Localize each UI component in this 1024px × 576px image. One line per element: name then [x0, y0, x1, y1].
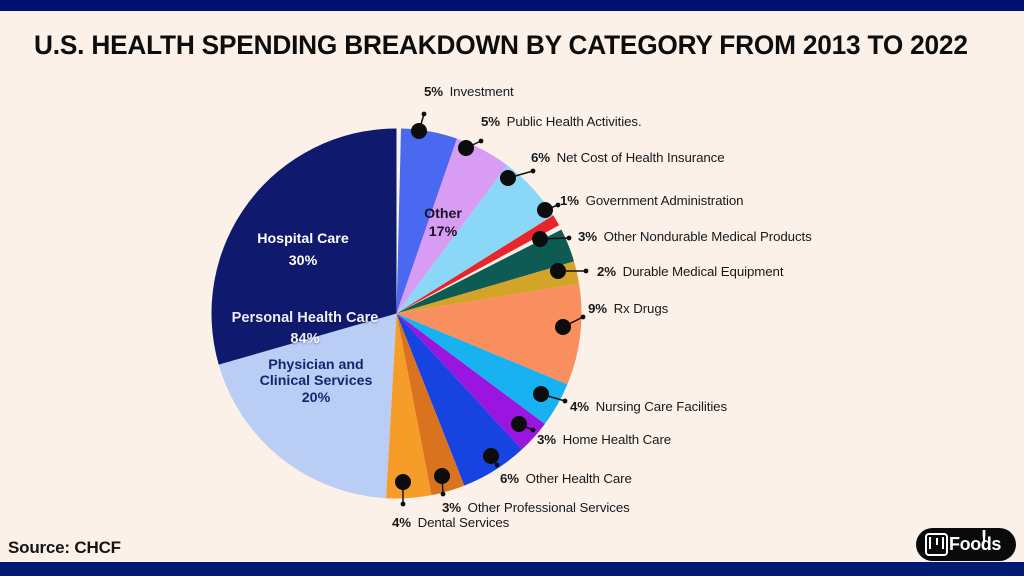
leader-anchor-dot [434, 468, 450, 484]
brand-logo-badge[interactable]: Foods [916, 528, 1016, 561]
callout-category: Nursing Care Facilities [589, 399, 727, 414]
callout-label: 6% Other Health Care [500, 471, 632, 486]
slice-label-name: Personal Health Care [205, 308, 405, 329]
callout-category: Other Nondurable Medical Products [597, 229, 812, 244]
callout-category: Other Health Care [519, 471, 632, 486]
leader-anchor-dot [511, 416, 527, 432]
callout-percent: 3% [442, 500, 461, 515]
slice-label-physician-and-clinical-services: Physician andClinical Services20% [248, 357, 384, 406]
leader-anchor-dot [411, 123, 427, 139]
callout-percent: 4% [570, 399, 589, 414]
w-monogram-icon [925, 533, 948, 556]
callout-label: 3% Other Nondurable Medical Products [578, 229, 812, 244]
slice-label-name: Hospital Care [224, 228, 382, 250]
callout-percent: 3% [578, 229, 597, 244]
callout-percent: 1% [560, 193, 579, 208]
callout-category: Government Administration [579, 193, 743, 208]
leader-tip-dot [563, 399, 568, 404]
group-label-other: Other17% [404, 206, 482, 242]
slice-label-percent: 17% [404, 224, 482, 242]
leader-tip-dot [567, 236, 572, 241]
callout-label: 4% Nursing Care Facilities [570, 399, 727, 414]
leader-anchor-dot [458, 140, 474, 156]
leader-tip-dot [584, 269, 589, 274]
callout-percent: 6% [531, 150, 550, 165]
leader-tip-dot [495, 463, 500, 468]
callout-category: Dental Services [411, 515, 509, 530]
leader-tip-dot [422, 112, 427, 117]
leader-anchor-dot [537, 202, 553, 218]
slice-label-percent: 30% [224, 250, 382, 272]
callout-label: 6% Net Cost of Health Insurance [531, 150, 725, 165]
callout-category: Public Health Activities. [500, 114, 642, 129]
callout-label: 9% Rx Drugs [588, 301, 668, 316]
leader-anchor-dot [532, 231, 548, 247]
callout-label: 5% Investment [424, 84, 514, 99]
leader-tip-dot [581, 315, 586, 320]
leader-anchor-dot [550, 263, 566, 279]
leader-tip-dot [531, 428, 536, 433]
slice-label-name: Physician and [248, 357, 384, 373]
slice-label-name: Clinical Services [248, 373, 384, 389]
slice-label-percent: 20% [248, 390, 384, 406]
callout-percent: 5% [424, 84, 443, 99]
callout-label: 5% Public Health Activities. [481, 114, 642, 129]
leader-tip-dot [441, 492, 446, 497]
fork-icon [980, 530, 988, 544]
callout-category: Durable Medical Equipment [616, 264, 783, 279]
callout-percent: 5% [481, 114, 500, 129]
slice-label-hospital-care: Hospital Care30% [224, 228, 382, 272]
leader-anchor-dot [500, 170, 516, 186]
callout-label: 1% Government Administration [560, 193, 743, 208]
callout-label: 2% Durable Medical Equipment [597, 264, 783, 279]
leader-tip-dot [401, 502, 406, 507]
leader-anchor-dot [483, 448, 499, 464]
callout-percent: 6% [500, 471, 519, 486]
leader-anchor-dot [533, 386, 549, 402]
callout-percent: 2% [597, 264, 616, 279]
leader-tip-dot [479, 139, 484, 144]
callout-category: Net Cost of Health Insurance [550, 150, 724, 165]
callout-category: Rx Drugs [607, 301, 668, 316]
callout-label: 3% Other Professional Services [442, 500, 630, 515]
group-label-personal-health-care: Personal Health Care84% [205, 308, 405, 350]
callout-category: Other Professional Services [461, 500, 630, 515]
infographic-canvas: U.S. HEALTH SPENDING BREAKDOWN BY CATEGO… [0, 0, 1024, 576]
callout-percent: 3% [537, 432, 556, 447]
leader-tip-dot [531, 169, 536, 174]
callout-category: Investment [443, 84, 514, 99]
slice-label-name: Other [404, 206, 482, 224]
brand-logo-label: Foods [949, 534, 1001, 555]
callout-percent: 4% [392, 515, 411, 530]
callout-label: 4% Dental Services [392, 515, 509, 530]
leader-anchor-dot [555, 319, 571, 335]
bottom-accent-bar [0, 562, 1024, 576]
slice-label-percent: 84% [205, 329, 405, 350]
callout-label: 3% Home Health Care [537, 432, 671, 447]
callout-category: Home Health Care [556, 432, 671, 447]
source-note: Source: CHCF [8, 538, 121, 558]
leader-anchor-dot [395, 474, 411, 490]
callout-percent: 9% [588, 301, 607, 316]
